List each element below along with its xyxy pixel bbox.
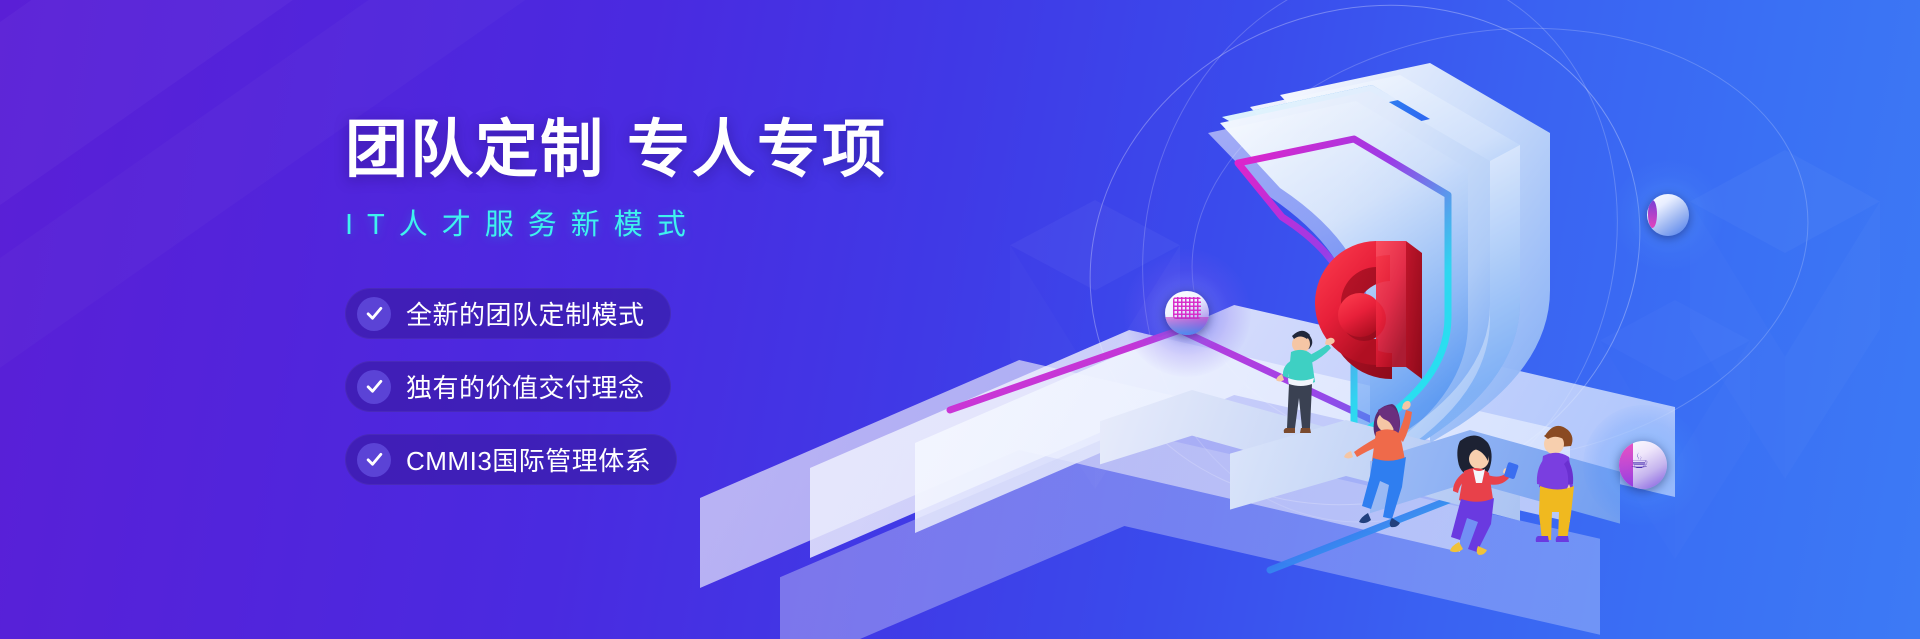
feature-pill[interactable]: 独有的价值交付理念 [345, 361, 671, 412]
person-purple-shirt [1520, 412, 1600, 552]
page-subtitle: IT人才服务新模式 [345, 201, 1105, 243]
hero-copy: 团队定制专人专项 IT人才服务新模式 全新的团队定制模式 独有的价值交付理念 [345, 116, 1105, 507]
check-icon [357, 443, 391, 477]
page-title: 团队定制专人专项 [345, 116, 1105, 184]
check-icon [357, 370, 391, 404]
bg-iso-box [1600, 300, 1750, 560]
hero-banner: ☕ [0, 0, 1920, 639]
feature-pill-list: 全新的团队定制模式 独有的价值交付理念 CMMI3国际管理体系 [345, 288, 1105, 485]
person-teal-shirt [1258, 312, 1338, 442]
check-icon [357, 297, 391, 331]
java-icon: ☕ [1630, 451, 1649, 472]
feature-pill-label: 独有的价值交付理念 [406, 368, 645, 405]
plain-sphere-node [1608, 155, 1728, 275]
bg-iso-box [1690, 150, 1880, 480]
person-red-jacket-phone [1430, 425, 1525, 565]
feature-pill[interactable]: 全新的团队定制模式 [345, 288, 671, 339]
title-part-2: 专人专项 [627, 115, 887, 185]
feature-pill-label: CMMI3国际管理体系 [406, 441, 651, 478]
feature-pill-label: 全新的团队定制模式 [406, 295, 645, 332]
feature-pill[interactable]: CMMI3国际管理体系 [345, 434, 677, 485]
person-orange-jacket [1340, 390, 1435, 535]
title-part-1: 团队定制 [345, 115, 605, 185]
